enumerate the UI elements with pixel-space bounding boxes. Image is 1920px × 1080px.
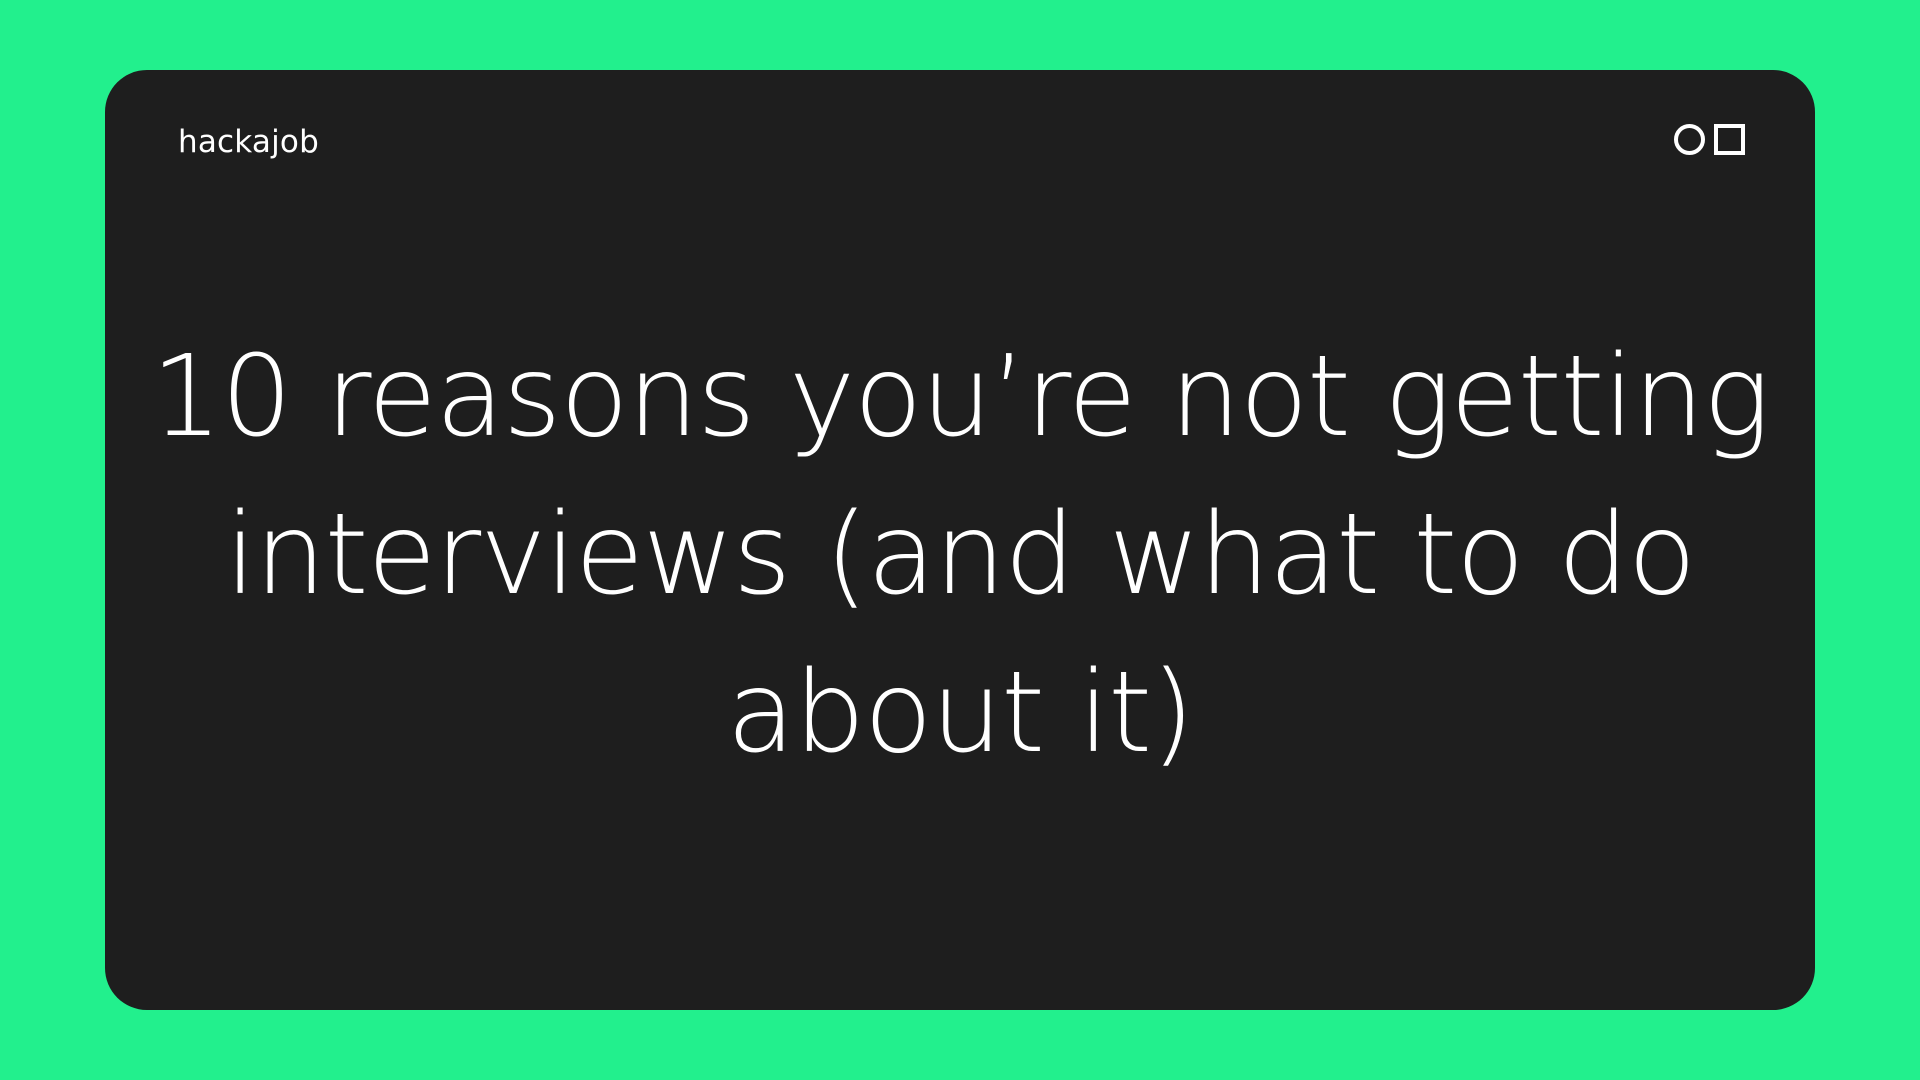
page-title: 10 reasons you’re not getting interviews… <box>105 318 1815 792</box>
hackajob-logo[interactable]: hackajob <box>178 125 319 159</box>
square-outline-icon <box>1714 124 1745 155</box>
shape-mark <box>1674 124 1745 155</box>
circle-outline-icon <box>1674 124 1705 155</box>
card-header: hackajob <box>105 70 1815 200</box>
brand-logo-text: hackajob <box>178 127 319 158</box>
content-card: hackajob 10 reasons you’re not getting i… <box>105 70 1815 1010</box>
slide-canvas: hackajob 10 reasons you’re not getting i… <box>0 0 1920 1080</box>
